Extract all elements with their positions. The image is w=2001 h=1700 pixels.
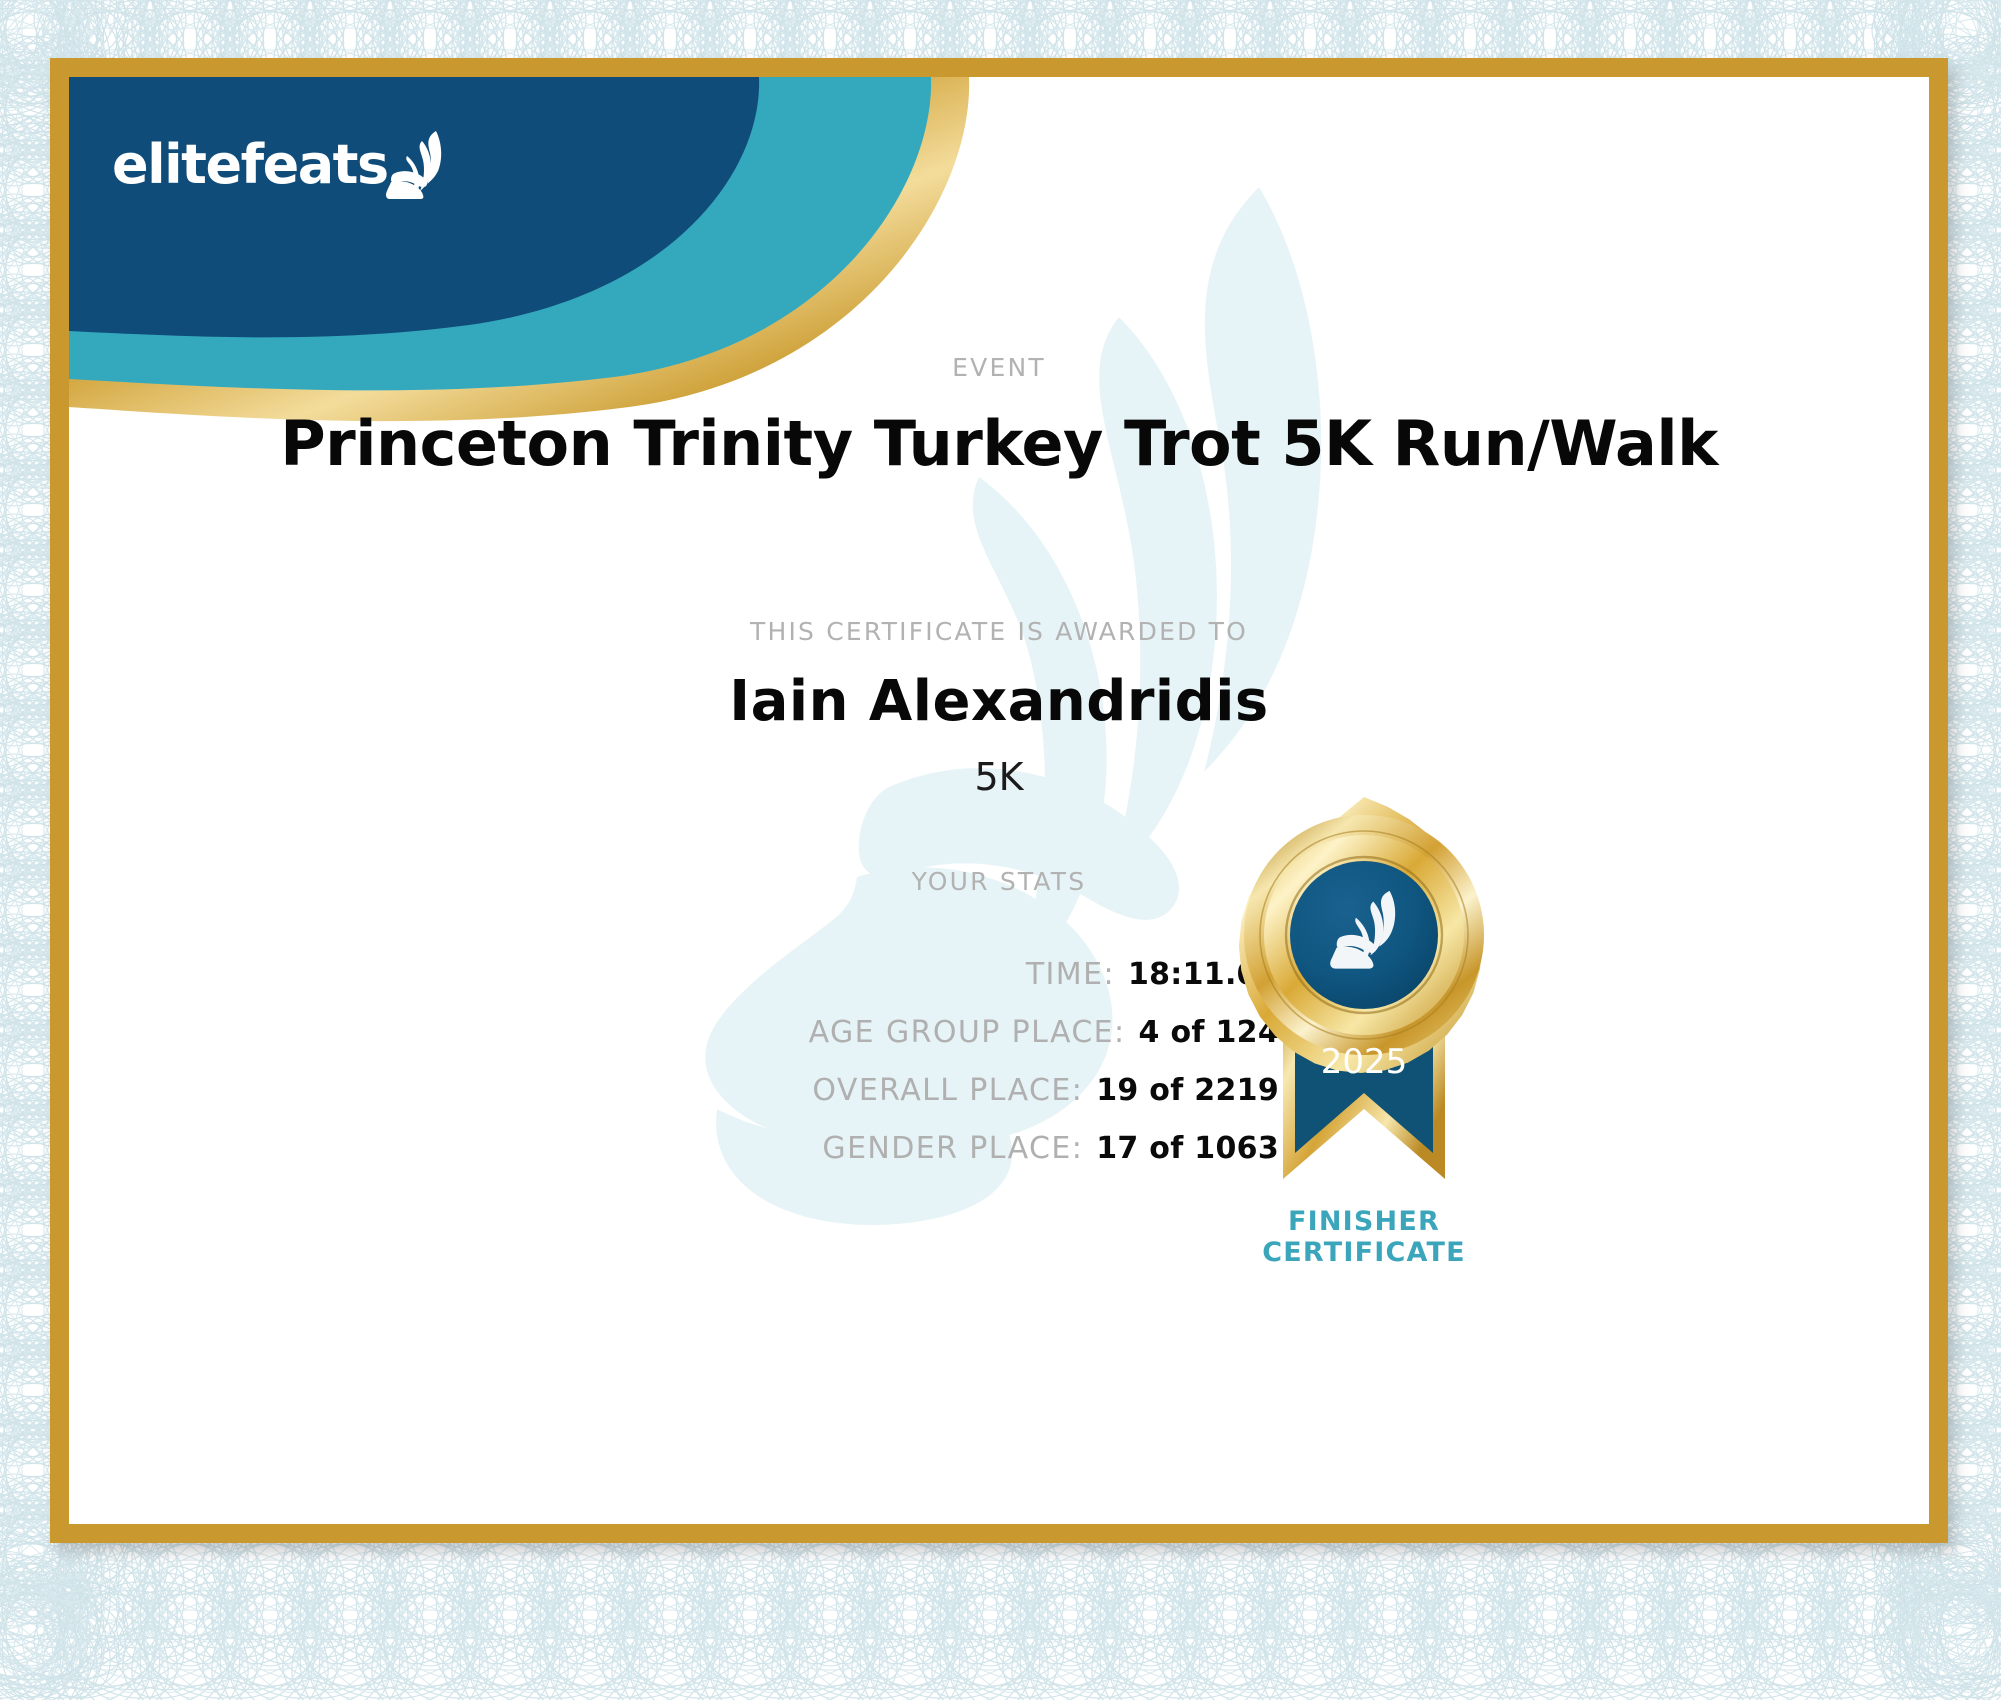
finisher-medal-badge: 2025 FINISHER CERTIFICATE [1199, 797, 1529, 1267]
division-label: 5K [69, 755, 1929, 799]
stat-label: OVERALL PLACE: [812, 1073, 1083, 1108]
certificate-page: elitefeats EVENT Pr [0, 0, 2001, 1700]
awarded-to-label: THIS CERTIFICATE IS AWARDED TO [69, 617, 1929, 646]
winged-foot-icon [386, 129, 450, 204]
stat-row-gender-place: GENDER PLACE: 17 of 1063 [69, 1131, 1279, 1166]
stat-row-age-group-place: AGE GROUP PLACE: 4 of 124 [69, 1015, 1279, 1050]
badge-caption-line2: CERTIFICATE [1199, 1237, 1529, 1268]
logo-wordmark: elitefeats [112, 138, 388, 192]
stat-row-overall-place: OVERALL PLACE: 19 of 2219 [69, 1073, 1279, 1108]
medal-ribbon-graphic: 2025 [1199, 1184, 1529, 1201]
event-title: Princeton Trinity Turkey Trot 5K Run/Wal… [69, 407, 1929, 480]
badge-caption: FINISHER CERTIFICATE [1199, 1206, 1529, 1269]
gold-frame-border: elitefeats EVENT Pr [50, 58, 1948, 1543]
your-stats-label: YOUR STATS [69, 867, 1929, 896]
event-label: EVENT [69, 353, 1929, 382]
certificate-card: elitefeats EVENT Pr [69, 77, 1929, 1524]
stats-list: TIME: 18:11.00 AGE GROUP PLACE: 4 of 124… [69, 957, 1279, 1189]
badge-year-text: 2025 [1321, 1042, 1408, 1082]
stat-label: TIME: [1026, 957, 1115, 992]
recipient-name: Iain Alexandridis [69, 669, 1929, 734]
elitefeats-logo: elitefeats [112, 125, 450, 204]
stat-label: AGE GROUP PLACE: [809, 1015, 1126, 1050]
stat-label: GENDER PLACE: [822, 1131, 1083, 1166]
badge-caption-line1: FINISHER [1199, 1206, 1529, 1237]
stat-row-time: TIME: 18:11.00 [69, 957, 1279, 992]
